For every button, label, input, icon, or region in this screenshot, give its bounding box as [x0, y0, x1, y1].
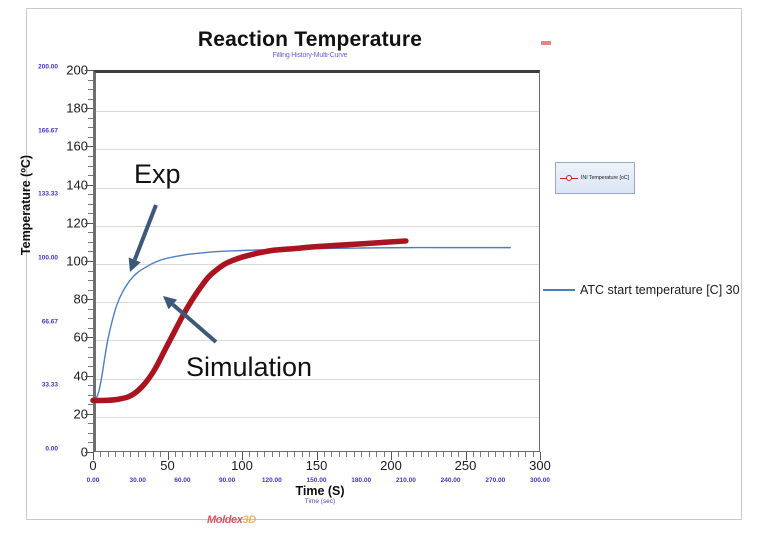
y-axis-tick-mark: [85, 299, 93, 300]
x-axis-tick-label-secondary: 240.00: [431, 477, 471, 484]
chart-legend[interactable]: INI Temperature [oC]: [555, 162, 635, 194]
legend-marker-icon: [560, 174, 578, 182]
y-axis-tick-label: 20: [42, 406, 88, 421]
x-axis-tick-label-secondary: 300.00: [520, 477, 560, 484]
annotation-simulation: Simulation: [186, 352, 312, 383]
x-axis-tick-label-secondary: 0.00: [73, 477, 113, 484]
x-axis-tick-label-secondary: 90.00: [207, 477, 247, 484]
x-axis-tick-label-secondary: 120.00: [252, 477, 292, 484]
x-axis-tick-label: 0: [68, 458, 118, 473]
legend-label: INI Temperature [oC]: [581, 175, 629, 181]
red-marker-icon: [541, 41, 551, 45]
page-title: Reaction Temperature: [120, 28, 500, 52]
x-axis-tick-label-secondary: 210.00: [386, 477, 426, 484]
slide-canvas: Reaction Temperature Filling History-Mul…: [0, 0, 768, 538]
y-axis-tick-label-secondary: 33.33: [12, 382, 58, 389]
x-axis-tick-label: 200: [366, 458, 416, 473]
annotation-exp: Exp: [134, 159, 181, 190]
x-axis-tick-label: 300: [515, 458, 565, 473]
y-axis-tick-label: 180: [42, 101, 88, 116]
y-axis-tick-label: 160: [42, 139, 88, 154]
y-axis-title: Temperature (ºC): [19, 125, 33, 285]
gridline: [96, 302, 539, 303]
y-axis-ticks: [85, 70, 93, 452]
chart-subtitle: Filling History-Multi-Curve: [120, 52, 500, 59]
y-axis-tick-label-secondary: 66.67: [12, 318, 58, 325]
x-axis-tick-label: 150: [292, 458, 342, 473]
y-axis-tick-mark: [85, 337, 93, 338]
series-side-label-text: ATC start temperature [C] 30: [580, 283, 740, 297]
y-axis-tick-label: 60: [42, 330, 88, 345]
gridline: [96, 111, 539, 112]
x-axis-tick-label: 50: [143, 458, 193, 473]
gridlines: [96, 73, 539, 451]
x-axis-tick-label-secondary: 60.00: [162, 477, 202, 484]
y-axis-tick-label-secondary: 0.00: [12, 446, 58, 453]
series-side-label: ATC start temperature [C] 30: [543, 283, 740, 297]
gridline: [96, 417, 539, 418]
y-axis-tick-mark: [85, 452, 93, 453]
gridline: [96, 340, 539, 341]
y-axis-tick-mark: [85, 261, 93, 262]
x-axis-tick-label-secondary: 270.00: [475, 477, 515, 484]
y-axis-tick-mark: [85, 185, 93, 186]
x-axis-tick-label-secondary: 30.00: [118, 477, 158, 484]
gridline: [96, 379, 539, 380]
y-axis-tick-mark: [85, 146, 93, 147]
x-axis-tick-label-secondary: 180.00: [341, 477, 381, 484]
y-axis-tick-mark: [85, 108, 93, 109]
x-axis-title: Time (S): [200, 484, 440, 498]
gridline: [96, 226, 539, 227]
x-axis-tick-label: 250: [441, 458, 491, 473]
x-axis-tick-label-secondary: 150.00: [297, 477, 337, 484]
gridline: [96, 264, 539, 265]
y-axis-tick-mark: [85, 414, 93, 415]
y-axis-tick-label: 80: [42, 292, 88, 307]
series-color-swatch: [543, 289, 575, 291]
x-axis-tick-label: 100: [217, 458, 267, 473]
y-axis-tick-mark: [85, 70, 93, 71]
y-axis-tick-label: 120: [42, 215, 88, 230]
plot-area: INI Temperature [oC] Moldex3D: [93, 70, 540, 452]
gridline: [96, 149, 539, 150]
y-axis-tick-label-secondary: 200.00: [12, 64, 58, 71]
y-axis-tick-mark: [85, 223, 93, 224]
watermark-moldex3d: Moldex3D: [207, 514, 256, 526]
y-axis-tick-mark: [85, 376, 93, 377]
x-axis-subtitle: Time (sec): [200, 498, 440, 505]
